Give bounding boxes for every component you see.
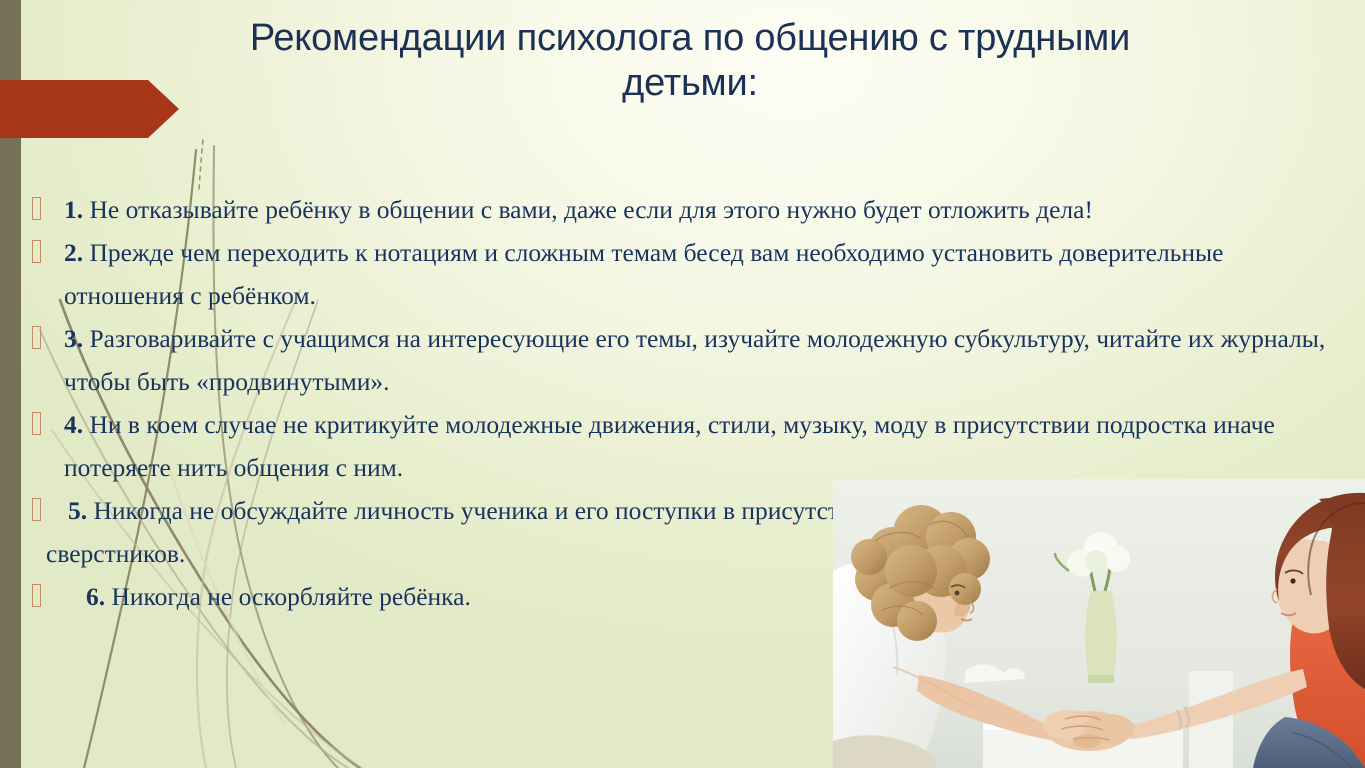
list-item-number: 3 [64,324,77,353]
list-item-text: Разговаривайте с учащимся на интересующи… [64,324,1325,396]
bullet-square-icon [32,197,41,220]
list-item-number: 6 [86,582,99,611]
presentation-slide: Рекомендации психолога по общению с труд… [0,0,1365,768]
list-item-text: Прежде чем переходить к нотациям и сложн… [64,238,1223,310]
bullet-square-icon [32,240,41,263]
list-item: 2. Прежде чем переходить к нотациям и сл… [24,231,1334,317]
photo-two-women-holding-hands [833,479,1365,768]
list-item-number: 4 [64,410,77,439]
list-item-text: Ни в коем случае не критикуйте молодежны… [64,410,1275,482]
list-item-text: Никогда не оскорбляйте ребёнка. [105,582,471,611]
list-item-number: 2 [64,238,77,267]
page-title: Рекомендации психолога по общению с труд… [180,16,1200,106]
list-item-number: 5 [68,496,81,525]
list-item: 3. Разговаривайте с учащимся на интересу… [24,317,1334,403]
list-item: 1. Не отказывайте ребёнку в общении с ва… [24,188,1334,231]
arrow-shape [0,80,179,138]
list-item: 4. Ни в коем случае не критикуйте молоде… [24,403,1334,489]
bullet-square-icon [32,326,41,349]
bullet-square-icon [32,412,41,435]
bullet-square-icon [32,584,41,607]
bullet-square-icon [32,498,41,521]
list-item-number: 1 [64,195,77,224]
list-item-text: Не отказывайте ребёнку в общении с вами,… [83,195,1093,224]
